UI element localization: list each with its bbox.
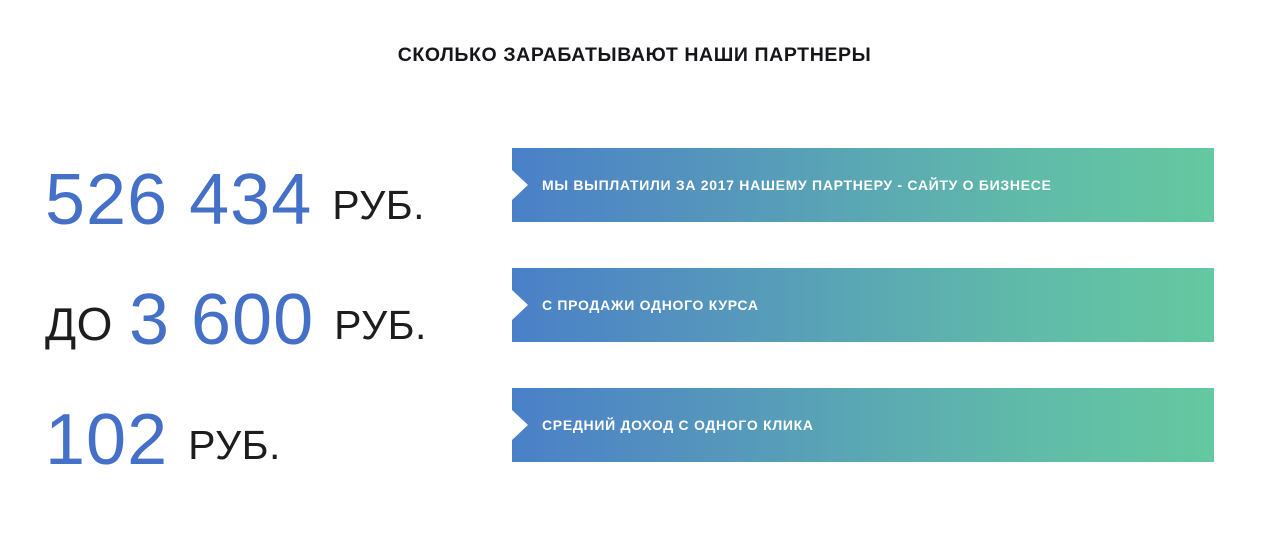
- stat-value: 526 434: [45, 164, 312, 236]
- stat-row: 102 РУБ.: [45, 380, 500, 500]
- gradient-bar: МЫ ВЫПЛАТИЛИ ЗА 2017 НАШЕМУ ПАРТНЕРУ - С…: [512, 148, 1214, 222]
- stat-row: ДО 3 600 РУБ.: [45, 260, 500, 380]
- stat-unit: РУБ.: [314, 305, 427, 346]
- bars-column: МЫ ВЫПЛАТИЛИ ЗА 2017 НАШЕМУ ПАРТНЕРУ - С…: [512, 148, 1214, 462]
- bar-label: С ПРОДАЖИ ОДНОГО КУРСА: [512, 297, 759, 313]
- gradient-bar: СРЕДНИЙ ДОХОД С ОДНОГО КЛИКА: [512, 388, 1214, 462]
- stat-prefix: ДО: [45, 301, 129, 347]
- bar-label: МЫ ВЫПЛАТИЛИ ЗА 2017 НАШЕМУ ПАРТНЕРУ - С…: [512, 177, 1052, 193]
- gradient-bar: С ПРОДАЖИ ОДНОГО КУРСА: [512, 268, 1214, 342]
- stat-unit: РУБ.: [168, 425, 281, 466]
- page-title: СКОЛЬКО ЗАРАБАТЫВАЮТ НАШИ ПАРТНЕРЫ: [0, 44, 1269, 67]
- stat-unit: РУБ.: [312, 185, 425, 226]
- bar-label: СРЕДНИЙ ДОХОД С ОДНОГО КЛИКА: [512, 417, 814, 433]
- stats-column: 526 434 РУБ. ДО 3 600 РУБ. 102 РУБ.: [45, 140, 500, 500]
- stat-value: 102: [45, 404, 168, 476]
- infographic-canvas: СКОЛЬКО ЗАРАБАТЫВАЮТ НАШИ ПАРТНЕРЫ 526 4…: [0, 0, 1269, 533]
- stat-value: 3 600: [129, 284, 314, 356]
- stat-row: 526 434 РУБ.: [45, 140, 500, 260]
